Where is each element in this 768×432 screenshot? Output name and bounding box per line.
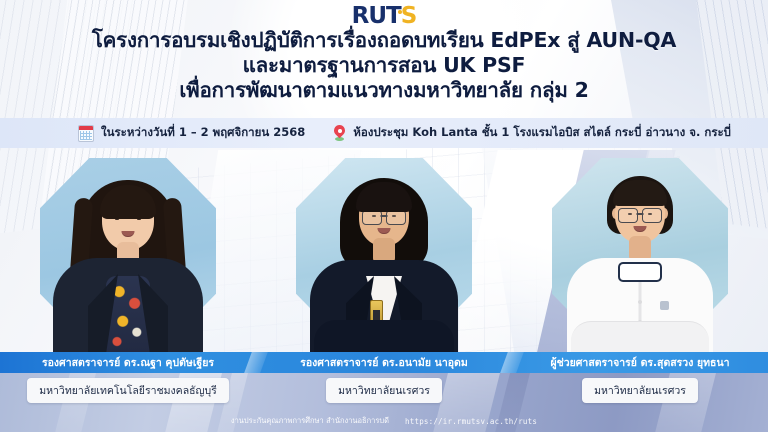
title-line-2: และมาตรฐานการสอน UK PSF (24, 53, 744, 78)
page-title: โครงการอบรมเชิงปฏิบัติการเรื่องถอดบทเรีย… (0, 28, 768, 103)
speaker-photo-row (0, 148, 768, 354)
calendar-icon (78, 125, 94, 142)
footer-strip: มหาวิทยาลัยเทคโนโลยีราชมงคลธัญบุรี มหาวิ… (0, 373, 768, 432)
speaker-name-2: รองศาสตราจารย์ ดร.อนามัย นาอุดม (256, 352, 512, 373)
footer-credit: งานประกันคุณภาพการศึกษา สำนักงานอธิการบด… (0, 415, 768, 427)
logo-dot-icon (398, 10, 402, 14)
event-location-label: ห้องประชุม Koh Lanta ชั้น 1 โรงแรมไอบิส … (353, 124, 731, 142)
speaker-affiliation-row: มหาวิทยาลัยเทคโนโลยีราชมงคลธัญบุรี มหาวิ… (0, 378, 768, 402)
speaker-affiliation-1: มหาวิทยาลัยเทคโนโลยีราชมงคลธัญบุรี (27, 378, 229, 403)
event-date-label: ในระหว่างวันที่ 1 – 2 พฤศจิกายน 2568 (101, 124, 305, 142)
title-line-1: โครงการอบรมเชิงปฏิบัติการเรื่องถอดบทเรีย… (24, 28, 744, 53)
event-date: ในระหว่างวันที่ 1 – 2 พฤศจิกายน 2568 (78, 124, 305, 142)
speaker-photo-3 (512, 148, 768, 354)
speaker-name-1: รองศาสตราจารย์ ดร.ณฐา คุปตัษเฐียร (0, 352, 256, 373)
speaker-portrait-2 (296, 158, 472, 354)
speaker-name-band: รองศาสตราจารย์ ดร.ณฐา คุปตัษเฐียร รองศาส… (0, 352, 768, 373)
speaker-photo-1 (0, 148, 256, 354)
event-poster: RUTS โครงการอบรมเชิงปฏิบัติการเรื่องถอดบ… (0, 0, 768, 432)
logo-text-main: RUT (352, 3, 401, 29)
shirt-logo-icon (660, 301, 669, 310)
speaker-name-3: ผู้ช่วยศาสตราจารย์ ดร.สุดสรวง ยุทธนา (512, 352, 768, 373)
affiliation-cell-1: มหาวิทยาลัยเทคโนโลยีราชมงคลธัญบุรี (0, 378, 256, 402)
speaker-portrait-3 (552, 158, 728, 354)
affiliation-cell-2: มหาวิทยาลัยนเรศวร (256, 378, 512, 402)
footer-organization: งานประกันคุณภาพการศึกษา สำนักงานอธิการบด… (231, 415, 389, 427)
title-line-3: เพื่อการพัฒนาตามแนวทางมหาวิทยาลัย กลุ่ม … (24, 78, 744, 103)
speaker-photo-2 (256, 148, 512, 354)
event-info-bar: ในระหว่างวันที่ 1 – 2 พฤศจิกายน 2568 ห้อ… (0, 118, 768, 148)
event-location: ห้องประชุม Koh Lanta ชั้น 1 โรงแรมไอบิส … (333, 124, 731, 142)
speaker-affiliation-2: มหาวิทยาลัยนเรศวร (326, 378, 442, 403)
affiliation-cell-3: มหาวิทยาลัยนเรศวร (512, 378, 768, 402)
logo-text-accent: S (401, 3, 417, 29)
map-pin-icon (333, 125, 346, 141)
speaker-affiliation-3: มหาวิทยาลัยนเรศวร (582, 378, 698, 403)
speaker-portrait-1 (40, 158, 216, 354)
ruts-logo: RUTS (0, 3, 768, 29)
footer-url[interactable]: https://ir.rmutsv.ac.th/ruts (405, 417, 537, 426)
